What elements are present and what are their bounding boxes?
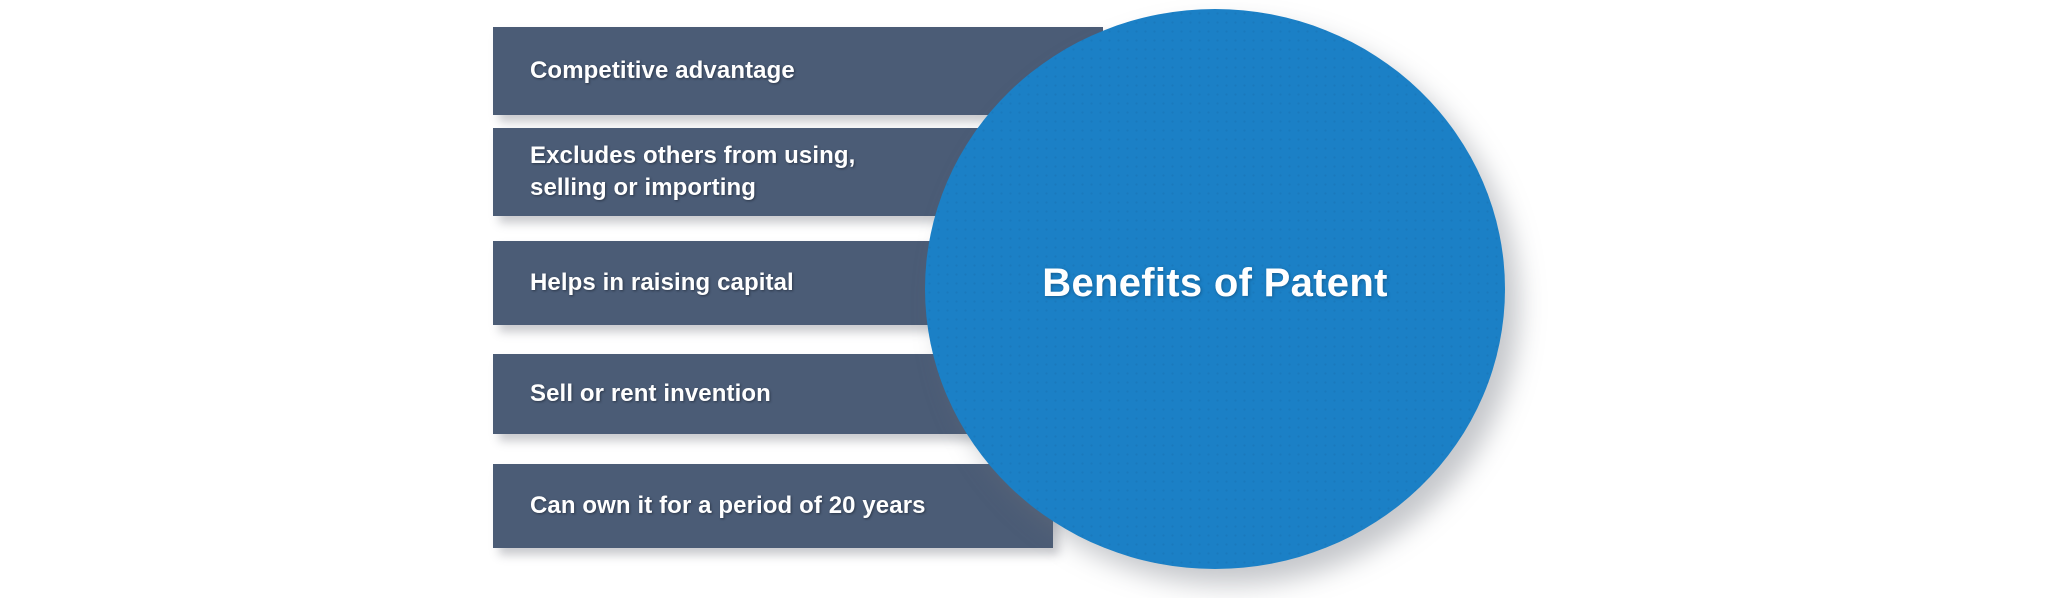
- benefit-bar-label: Excludes others from using, selling or i…: [530, 140, 855, 204]
- benefit-bar-label: Sell or rent invention: [530, 378, 771, 410]
- center-circle[interactable]: Benefits of Patent: [925, 9, 1505, 569]
- benefit-bar-label: Helps in raising capital: [530, 267, 794, 299]
- center-circle-title: Benefits of Patent: [1042, 261, 1387, 306]
- benefit-bar-twenty-years[interactable]: Can own it for a period of 20 years: [493, 464, 1053, 548]
- benefit-bar-label: Competitive advantage: [530, 55, 795, 87]
- benefit-bar-label: Can own it for a period of 20 years: [530, 490, 926, 522]
- infographic-canvas: Competitive advantage Excludes others fr…: [0, 0, 2048, 598]
